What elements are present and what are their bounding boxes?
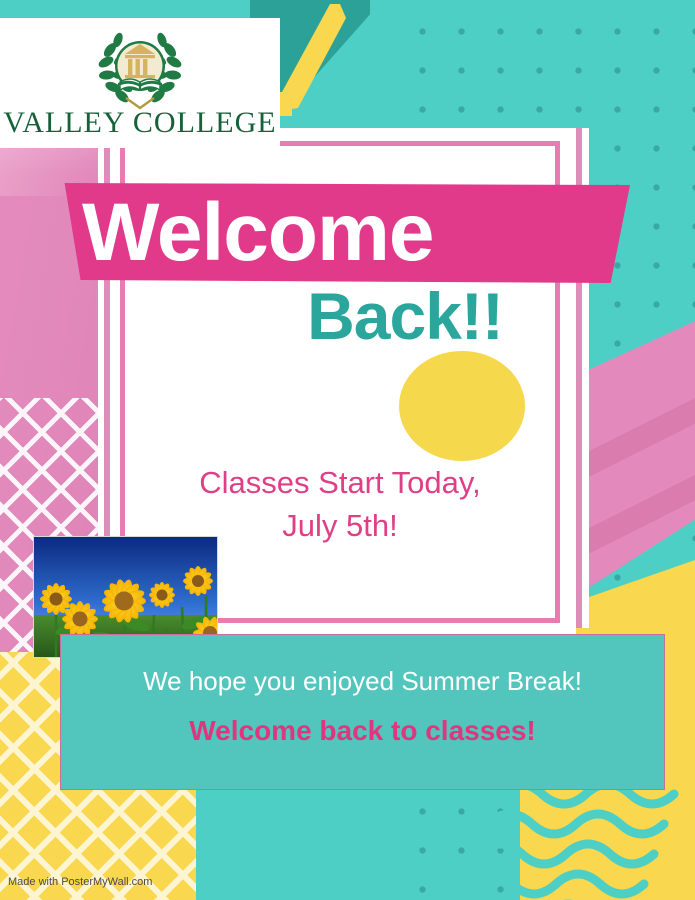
message-line1: We hope you enjoyed Summer Break! (61, 666, 664, 697)
message-line2: Welcome back to classes! (61, 715, 664, 747)
teal-wave-pattern-decor (430, 780, 695, 900)
headline-line1: Welcome (82, 192, 434, 274)
yellow-chevron-decor (268, 0, 398, 116)
headline-line2: Back!! (125, 283, 555, 349)
logo-block: VALLEY COLLEGE (0, 18, 280, 148)
subheadline-block: Classes Start Today, July 5th! (125, 462, 555, 548)
logo-wordmark: VALLEY COLLEGE (3, 108, 276, 138)
subheadline-line1: Classes Start Today, (125, 462, 555, 505)
watermark-text: Made with PosterMyWall.com (8, 876, 152, 888)
poster-canvas: Back!! Welcome (0, 0, 695, 900)
message-box: We hope you enjoyed Summer Break! Welcom… (60, 634, 665, 790)
yellow-circle-decor (399, 351, 525, 461)
valley-college-crest-icon (92, 20, 188, 112)
headline-banner: Welcome (60, 183, 630, 283)
